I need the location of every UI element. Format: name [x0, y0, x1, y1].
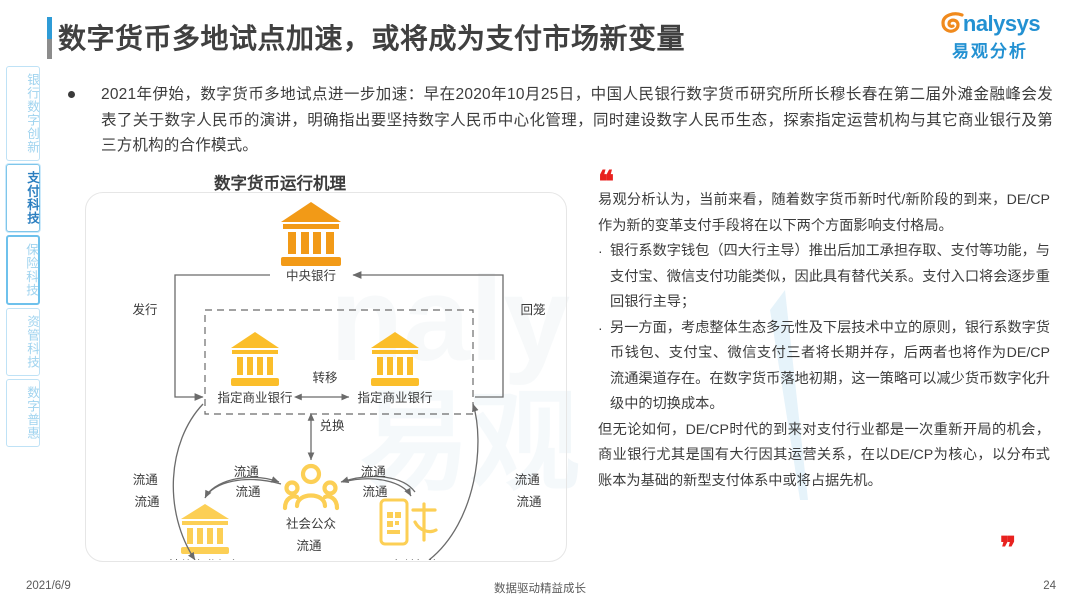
quote-close-icon: ❞	[1000, 534, 1016, 564]
commentary-point-2: · 另一方面，考虑整体生态多元性及下层技术中立的原则，银行系数字货币钱包、支付宝…	[598, 316, 1050, 418]
edge-label-circulate-left: 流通 流通	[133, 473, 162, 509]
commentary-conclusion: 但无论如何，DE/CP时代的到来对支付行业都是一次重新开局的机会，商业银行尤其是…	[598, 418, 1050, 495]
central-bank-icon	[281, 202, 341, 266]
node-label-designated-bank-right: 指定商业银行	[357, 390, 432, 405]
public-people-icon	[285, 466, 337, 508]
sidebar-item-label: 保险科技	[23, 243, 38, 297]
commentary-point-text: 银行系数字钱包（四大行主导）推出后加工承担存取、支付等功能，与支付宝、微信支付功…	[610, 239, 1050, 316]
slide-footer: 2021/6/9 数据驱动精益成长 24	[0, 580, 1080, 598]
slide-canvas: naly 易观 数字货币多地试点加速，或将成为支付市场新变量 nalysys 易…	[0, 0, 1080, 608]
commentary-point-1: · 银行系数字钱包（四大行主导）推出后加工承担存取、支付等功能，与支付宝、微信支…	[598, 239, 1050, 316]
node-label-public: 社会公众	[286, 516, 336, 531]
edge-label-circulate-right: 流通 流通	[515, 473, 544, 509]
node-label-central-bank: 中央银行	[286, 268, 336, 283]
footer-slogan: 数据驱动精益成长	[0, 580, 1080, 596]
payment-org-qr-phone-icon	[381, 500, 436, 544]
page-title: 数字货币多地试点加速，或将成为支付市场新变量	[58, 17, 685, 57]
designated-bank-right-icon	[371, 332, 419, 386]
other-bank-icon	[181, 504, 229, 554]
sidebar-item-asset-management-tech[interactable]: 资管科技	[6, 308, 40, 376]
sidebar-item-insurance-tech[interactable]: 保险科技	[6, 235, 40, 305]
edge-label-circulate-bottom: 流通	[296, 539, 322, 553]
edge-label-transfer: 转移	[312, 370, 337, 385]
edge-label-circulate-right-side: 流通 流通	[361, 465, 390, 499]
edge-label-withdraw: 回笼	[520, 302, 545, 317]
commentary-intro: 易观分析认为，当前来看，随着数字货币新时代/新阶段的到来，DE/CP作为新的变革…	[598, 188, 1050, 239]
sidebar-item-bank-digital-innovation[interactable]: 银行数字创新	[6, 66, 40, 161]
sidebar-item-label: 资管科技	[24, 315, 39, 369]
commentary-point-text: 另一方面，考虑整体生态多元性及下层技术中立的原则，银行系数字货币钱包、支付宝、微…	[610, 316, 1050, 418]
sidebar-item-label: 银行数字创新	[24, 73, 39, 154]
edge-label-issue: 发行	[132, 302, 157, 317]
bullet-dot-icon	[68, 91, 75, 98]
commentary-bullet-marker: ·	[598, 239, 610, 316]
edge-label-circulate-public-left: 流通 流通	[234, 465, 263, 499]
node-label-other-bank: 其他商业银行	[167, 558, 242, 560]
diagram-title: 数字货币运行机理	[0, 170, 560, 194]
brand-logo: nalysys 易观分析	[926, 12, 1054, 62]
title-accent-bar	[47, 17, 52, 59]
main-bullet-text: 2021年伊始，数字货币多地试点进一步加速：早在2020年10月25日，中国人民…	[101, 82, 1053, 159]
sidebar-item-digital-inclusive-finance[interactable]: 数字普惠	[6, 379, 40, 447]
sidebar-nav: 银行数字创新 支付科技 保险科技 资管科技 数字普惠	[6, 66, 42, 450]
designated-bank-left-icon	[231, 332, 279, 386]
node-label-payment-org: 支付机构	[390, 558, 440, 560]
node-label-designated-bank-left: 指定商业银行	[217, 390, 292, 405]
logo-chinese-name: 易观分析	[926, 37, 1054, 62]
currency-flow-diagram: 中央银行 发行 回笼 指定商业银行	[85, 192, 565, 560]
logo-wordmark: nalysys	[963, 13, 1040, 35]
commentary-bullet-marker: ·	[598, 316, 610, 418]
main-bullet-row: 2021年伊始，数字货币多地试点进一步加速：早在2020年10月25日，中国人民…	[68, 82, 1053, 159]
footer-page-number: 24	[1043, 580, 1056, 592]
commentary-panel: 易观分析认为，当前来看，随着数字货币新时代/新阶段的到来，DE/CP作为新的变革…	[598, 188, 1050, 494]
sidebar-item-label: 数字普惠	[24, 386, 39, 440]
edge-label-exchange: 兑换	[319, 419, 345, 433]
